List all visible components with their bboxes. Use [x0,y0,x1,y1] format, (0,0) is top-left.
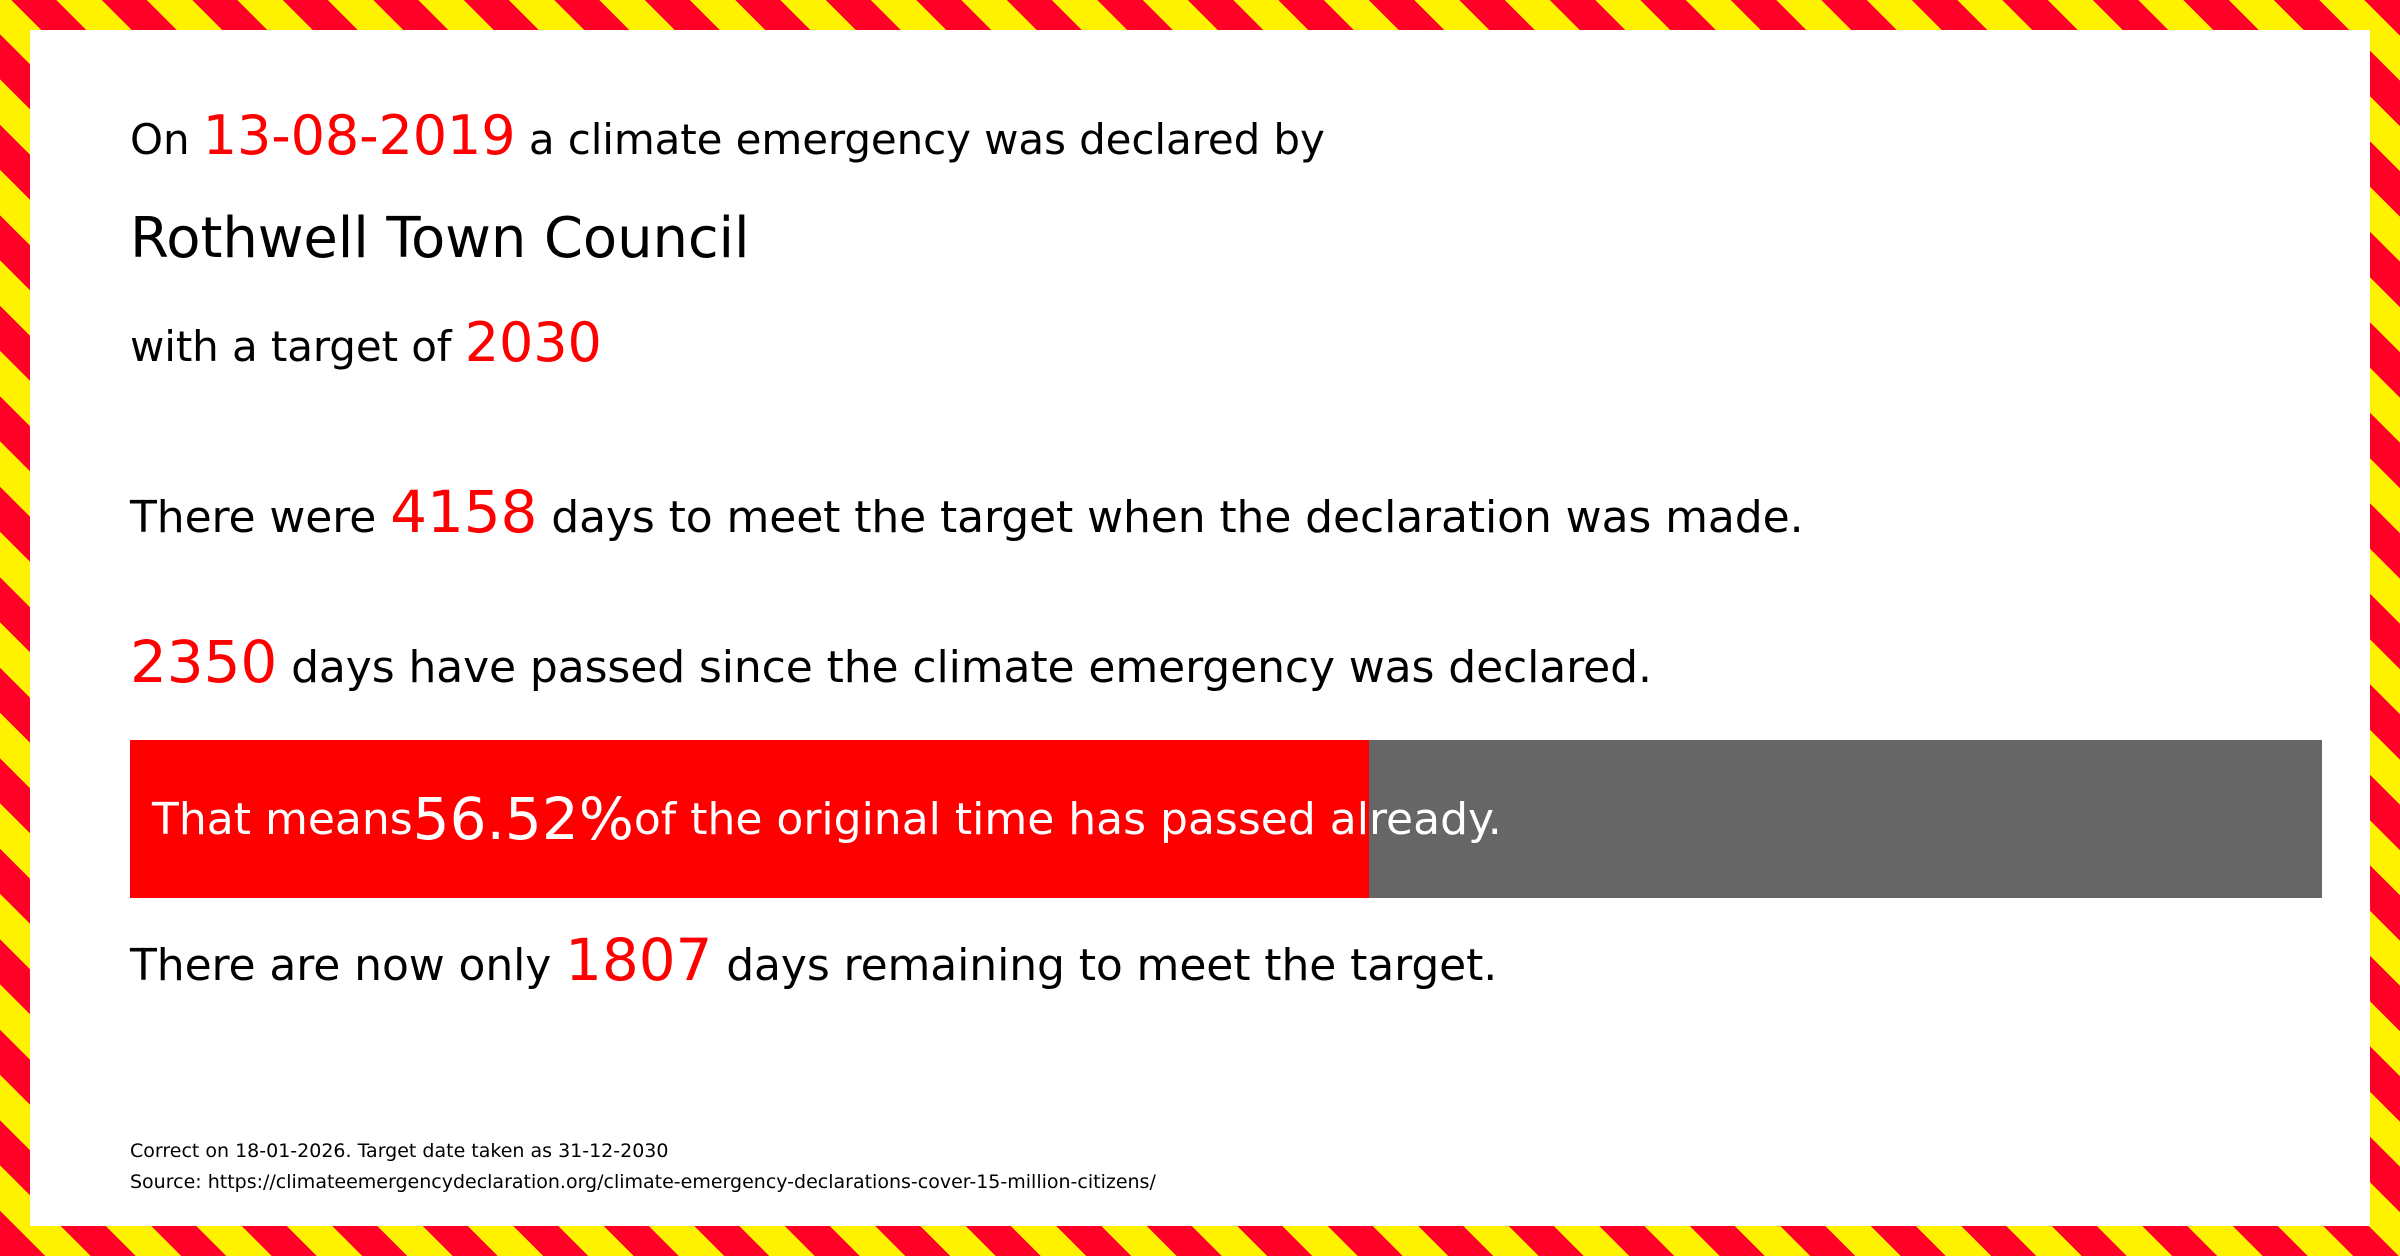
passed-days-value: 2350 [130,628,277,696]
target-sentence: with a target of 2030 [130,315,602,375]
hazard-bordered-poster: On 13-08-2019 a climate emergency was de… [0,0,2400,1256]
footer-correct-on: Correct on 18-01-2026. Target date taken… [130,1136,1156,1167]
available-suffix: days to meet the target when the declara… [537,492,1803,543]
target-year: 2030 [465,311,602,374]
time-elapsed-progress-bar: That means 56.52% of the original time h… [130,740,2322,898]
declaration-prefix: On [130,115,203,164]
poster-card: On 13-08-2019 a climate emergency was de… [30,30,2370,1226]
declaration-sentence: On 13-08-2019 a climate emergency was de… [130,108,1325,168]
passed-suffix: days have passed since the climate emerg… [277,642,1652,693]
available-prefix: There were [130,492,390,543]
remaining-days-sentence: There are now only 1807 days remaining t… [130,932,1497,994]
available-days-value: 4158 [390,478,537,546]
target-prefix: with a target of [130,322,465,371]
remaining-days-value: 1807 [565,926,712,994]
progress-label: That means 56.52% of the original time h… [152,740,1502,898]
progress-prefix: That means [152,794,413,845]
footer-source: Source: https://climateemergencydeclarat… [130,1167,1156,1198]
progress-percent-value: 56.52% [413,785,634,853]
declaration-suffix: a climate emergency was declared by [516,115,1325,164]
declaration-date: 13-08-2019 [203,104,516,167]
passed-days-sentence: 2350 days have passed since the climate … [130,634,1652,696]
remaining-suffix: days remaining to meet the target. [712,940,1497,991]
progress-suffix: of the original time has passed already. [634,794,1502,845]
available-days-sentence: There were 4158 days to meet the target … [130,484,1803,546]
council-name: Rothwell Town Council [130,208,749,270]
footer-notes: Correct on 18-01-2026. Target date taken… [130,1136,1156,1198]
remaining-prefix: There are now only [130,940,565,991]
